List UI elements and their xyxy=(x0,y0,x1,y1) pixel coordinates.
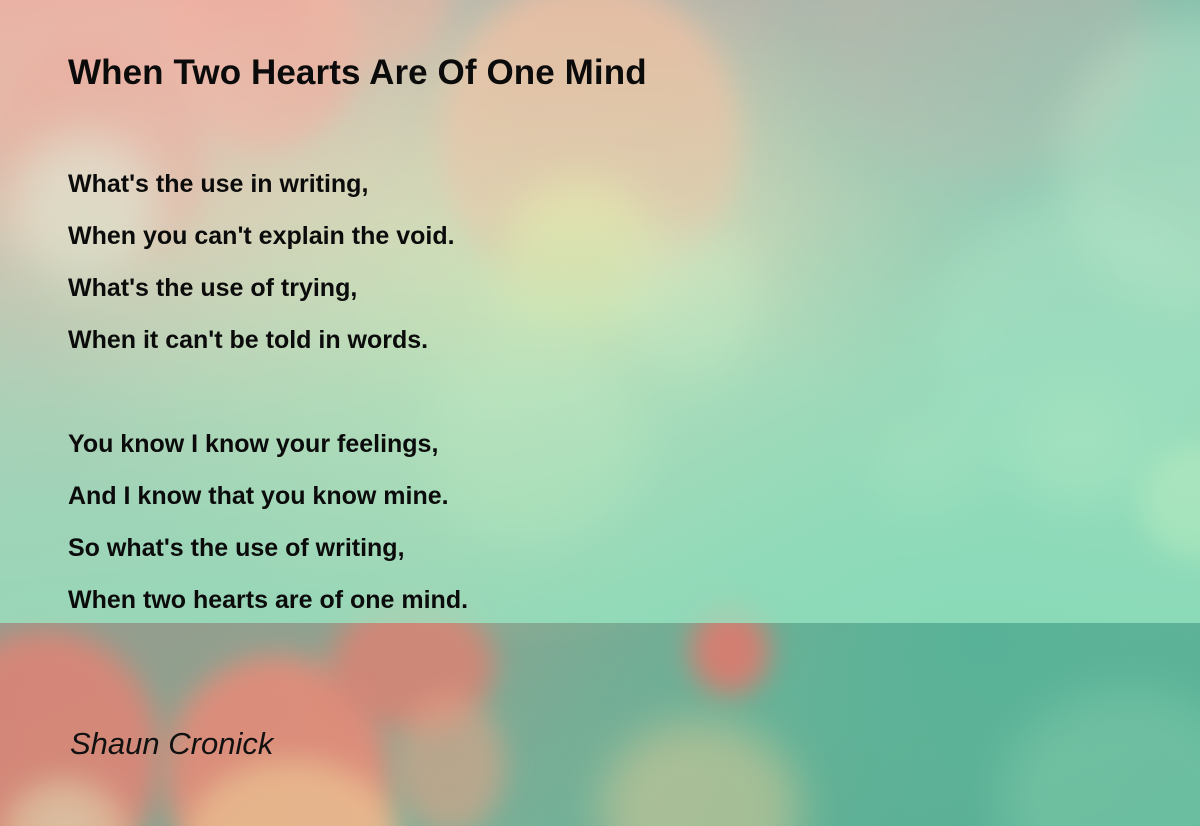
poem-image-card: When Two Hearts Are Of One Mind What's t… xyxy=(0,0,1200,826)
poem-line: When it can't be told in words. xyxy=(68,314,968,366)
text-layer: When Two Hearts Are Of One Mind What's t… xyxy=(0,0,1200,826)
author-name: Shaun Cronick xyxy=(70,726,273,762)
poem-line: So what's the use of writing, xyxy=(68,522,968,574)
poem-line: What's the use of trying, xyxy=(68,262,968,314)
poem-title: When Two Hearts Are Of One Mind xyxy=(68,53,647,93)
poem-line: What's the use in writing, xyxy=(68,158,968,210)
poem-line: When two hearts are of one mind. xyxy=(68,574,968,626)
poem-line: And I know that you know mine. xyxy=(68,470,968,522)
poem-body: What's the use in writing, When you can'… xyxy=(68,158,968,626)
poem-line: You know I know your feelings, xyxy=(68,418,968,470)
poem-stanza: What's the use in writing, When you can'… xyxy=(68,158,968,366)
poem-line: When you can't explain the void. xyxy=(68,210,968,262)
poem-stanza: You know I know your feelings, And I kno… xyxy=(68,418,968,626)
